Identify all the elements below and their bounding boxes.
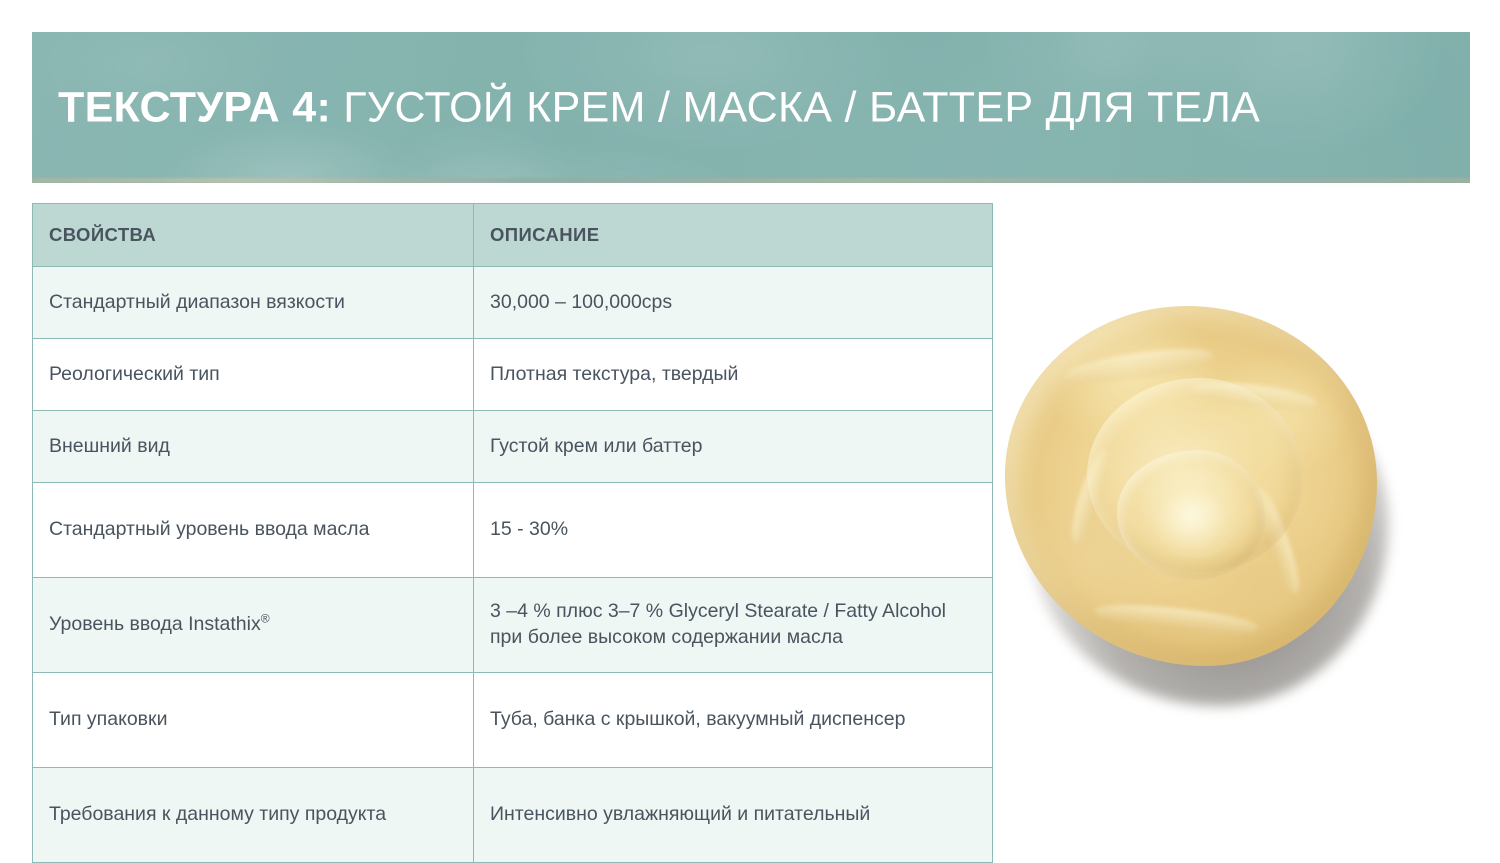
table-body: Стандартный диапазон вязкости 30,000 – 1… [33, 267, 993, 863]
column-header-description: ОПИСАНИЕ [474, 204, 993, 267]
column-header-properties: СВОЙСТВА [33, 204, 474, 267]
table-row: Реологический тип Плотная текстура, твер… [33, 339, 993, 411]
cream-swirl-center [1154, 486, 1236, 558]
cream-ridge [1190, 378, 1318, 415]
cream-ridge [1247, 484, 1305, 596]
table-header: СВОЙСТВА ОПИСАНИЕ [33, 204, 993, 267]
cell-property: Уровень ввода Instathix® [33, 578, 474, 673]
page-title: ТЕКСТУРА 4: ГУСТОЙ КРЕМ / МАСКА / БАТТЕР… [58, 85, 1260, 130]
cream-ridge [1065, 447, 1115, 546]
cell-description: Туба, банка с крышкой, вакуумный диспенс… [474, 673, 993, 768]
table-row: Уровень ввода Instathix® 3 –4 % плюс 3–7… [33, 578, 993, 673]
registered-trademark-mark: ® [261, 612, 270, 626]
cream-ridge [1063, 343, 1214, 389]
cell-description: Плотная текстура, твердый [474, 339, 993, 411]
cell-description: 3 –4 % плюс 3–7 % Glyceryl Stearate / Fa… [474, 578, 993, 673]
cell-property: Стандартный диапазон вязкости [33, 267, 474, 339]
table-row: Стандартный диапазон вязкости 30,000 – 1… [33, 267, 993, 339]
page-title-rest: ГУСТОЙ КРЕМ / МАСКА / БАТТЕР ДЛЯ ТЕЛА [331, 83, 1260, 131]
cell-property: Требования к данному типу продукта [33, 768, 474, 863]
properties-table: СВОЙСТВА ОПИСАНИЕ Стандартный диапазон в… [32, 203, 993, 863]
table-row: Внешний вид Густой крем или баттер [33, 411, 993, 483]
cream-swirl-middle [1117, 450, 1266, 580]
cell-property: Стандартный уровень ввода масла [33, 483, 474, 578]
product-texture-image [995, 270, 1415, 690]
cell-description: 15 - 30% [474, 483, 993, 578]
table-row: Стандартный уровень ввода масла 15 - 30% [33, 483, 993, 578]
cell-property: Реологический тип [33, 339, 474, 411]
page-title-emphasis: ТЕКСТУРА 4: [58, 83, 331, 131]
banner-bottom-edge [32, 178, 1470, 183]
slide-header-banner: ТЕКСТУРА 4: ГУСТОЙ КРЕМ / МАСКА / БАТТЕР… [32, 32, 1470, 183]
table-row: Тип упаковки Туба, банка с крышкой, ваку… [33, 673, 993, 768]
cell-property: Тип упаковки [33, 673, 474, 768]
cell-property-text: Уровень ввода Instathix [49, 613, 261, 635]
table-row: Требования к данному типу продукта Интен… [33, 768, 993, 863]
cell-property: Внешний вид [33, 411, 474, 483]
table-header-row: СВОЙСТВА ОПИСАНИЕ [33, 204, 993, 267]
cell-description: Интенсивно увлажняющий и питательный [474, 768, 993, 863]
cell-description: 30,000 – 100,000cps [474, 267, 993, 339]
cream-ridge [1094, 600, 1259, 639]
cell-description: Густой крем или баттер [474, 411, 993, 483]
